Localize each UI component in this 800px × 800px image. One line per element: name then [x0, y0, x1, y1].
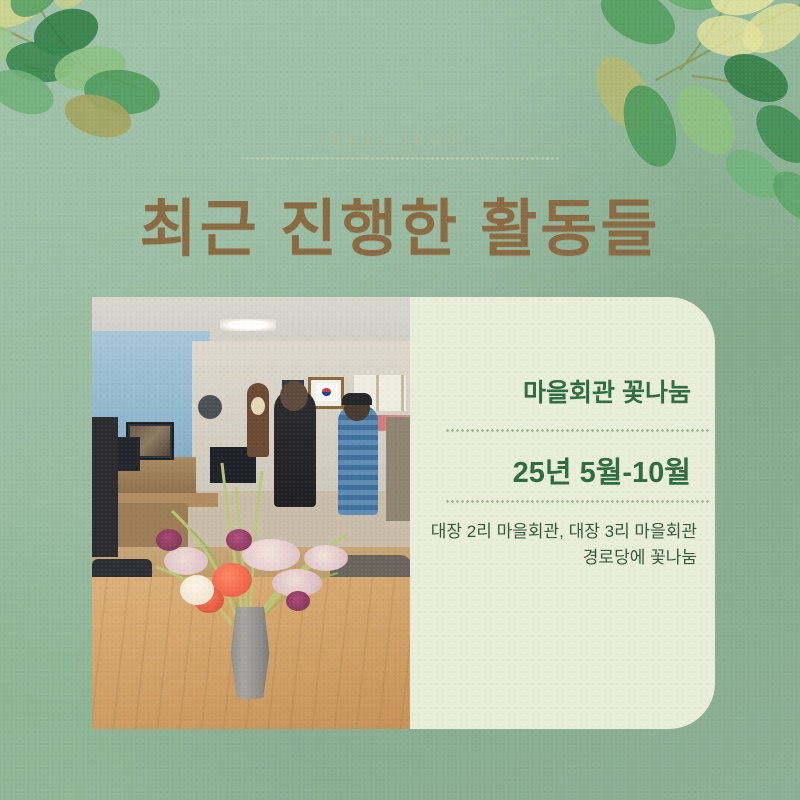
activity-date: 25년 5월-10월 [434, 449, 691, 491]
korean-flag-icon [316, 383, 338, 401]
photo-scene [92, 297, 410, 729]
brand-kicker: kkot ieum [0, 130, 800, 150]
poster-canvas: 마을회관 꽃나눔 25년 5월-10월 대장 2리 마을회관, 대장 3리 마을… [0, 0, 800, 800]
wall-clock-icon [247, 383, 269, 457]
ceiling-light-icon [220, 319, 276, 331]
activity-title: 마을회관 꽃나눔 [434, 373, 691, 409]
kicker-dotted-rule [240, 157, 560, 160]
activity-description: 대장 2리 마을회관, 대장 3리 마을회관 경로당에 꽃나눔 [424, 519, 697, 572]
dotted-divider-top [445, 429, 710, 432]
fan-icon [198, 395, 222, 419]
page-title: 최근 진행한 활동들 [0, 178, 800, 268]
activity-photo [92, 297, 410, 729]
dotted-divider-bottom [445, 500, 710, 503]
activity-info-card: 마을회관 꽃나눔 25년 5월-10월 대장 2리 마을회관, 대장 3리 마을… [410, 297, 715, 729]
